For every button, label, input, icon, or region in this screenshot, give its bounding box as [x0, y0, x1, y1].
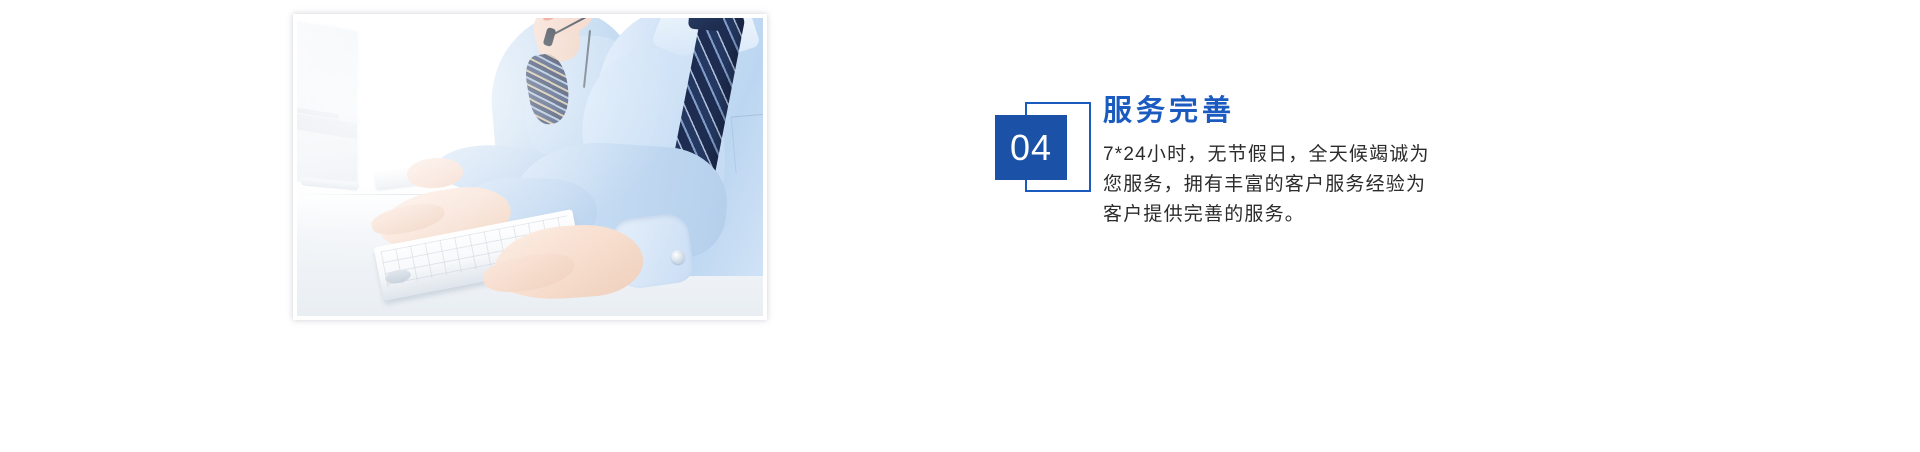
step-number: 04	[1010, 130, 1052, 166]
shirt-pocket	[731, 112, 763, 174]
feature-copy: 服务完善 7*24小时，无节假日，全天候竭诚为 您服务，拥有丰富的客户服务经验为…	[1103, 95, 1523, 230]
description-line: 7*24小时，无节假日，全天候竭诚为	[1103, 140, 1523, 170]
step-badge-square: 04	[995, 115, 1067, 180]
cuff-button-icon	[671, 250, 685, 264]
photo-frame	[293, 14, 767, 320]
customer-service-photo	[297, 18, 763, 316]
feature-title: 服务完善	[1103, 95, 1523, 128]
step-badge: 04	[995, 102, 1091, 194]
monitor-icon	[297, 21, 357, 189]
description-line: 您服务，拥有丰富的客户服务经验为	[1103, 170, 1523, 200]
feature-section: 04 服务完善 7*24小时，无节假日，全天候竭诚为 您服务，拥有丰富的客户服务…	[0, 0, 1920, 452]
description-line: 客户提供完善的服务。	[1103, 200, 1523, 230]
feature-description: 7*24小时，无节假日，全天候竭诚为 您服务，拥有丰富的客户服务经验为 客户提供…	[1103, 140, 1523, 230]
